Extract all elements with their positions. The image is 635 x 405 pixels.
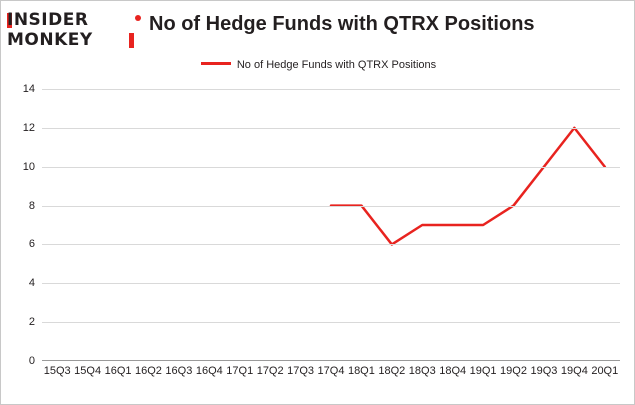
x-axis-tick-label: 19Q3 [530,365,557,377]
x-axis-tick-label: 17Q2 [257,365,284,377]
legend-color-swatch [201,62,231,65]
x-axis-tick-label: 20Q1 [591,365,618,377]
y-axis-tick-label: 8 [29,200,35,212]
logo-line1: INSIDER [7,10,88,30]
insider-monkey-logo: INSIDER MONKEY [7,9,139,53]
x-axis-tick-label: 16Q1 [105,365,132,377]
logo-dot [135,15,141,21]
x-axis-tick-label: 18Q4 [439,365,466,377]
logo-bar-right [129,33,134,48]
x-axis-tick-label: 19Q1 [470,365,497,377]
y-axis-tick-label: 4 [29,277,35,289]
gridline [42,244,620,245]
logo-line2: MONKEY [7,30,93,50]
series-line [42,89,620,361]
x-axis-tick-label: 15Q3 [44,365,71,377]
gridline [42,167,620,168]
x-axis-tick-label: 18Q3 [409,365,436,377]
x-axis-tick-label: 19Q2 [500,365,527,377]
y-axis-tick-label: 2 [29,316,35,328]
gridline [42,206,620,207]
plot-area: 02468101214 [42,89,620,361]
x-axis-tick-label: 15Q4 [74,365,101,377]
y-axis-tick-label: 14 [23,83,35,95]
chart-legend: No of Hedge Funds with QTRX Positions [1,59,635,71]
data-line [331,128,605,245]
x-axis-line [42,360,620,361]
x-axis-tick-label: 18Q1 [348,365,375,377]
x-axis-tick-label: 17Q1 [226,365,253,377]
y-axis-tick-label: 6 [29,238,35,250]
x-axis-tick-label: 17Q4 [318,365,345,377]
chart-container: INSIDER MONKEY No of Hedge Funds with QT… [0,0,635,405]
x-axis-tick-label: 17Q3 [287,365,314,377]
x-axis-labels: 15Q315Q416Q116Q216Q316Q417Q117Q217Q317Q4… [42,365,620,385]
gridline [42,322,620,323]
x-axis-tick-label: 18Q2 [378,365,405,377]
gridline [42,89,620,90]
y-axis-tick-label: 10 [23,161,35,173]
legend-label: No of Hedge Funds with QTRX Positions [237,59,436,71]
chart-title: No of Hedge Funds with QTRX Positions [149,13,535,36]
x-axis-tick-label: 16Q4 [196,365,223,377]
y-axis-tick-label: 0 [29,355,35,367]
x-axis-tick-label: 16Q2 [135,365,162,377]
gridline [42,128,620,129]
x-axis-tick-label: 16Q3 [165,365,192,377]
x-axis-tick-label: 19Q4 [561,365,588,377]
y-axis-tick-label: 12 [23,122,35,134]
gridline [42,283,620,284]
